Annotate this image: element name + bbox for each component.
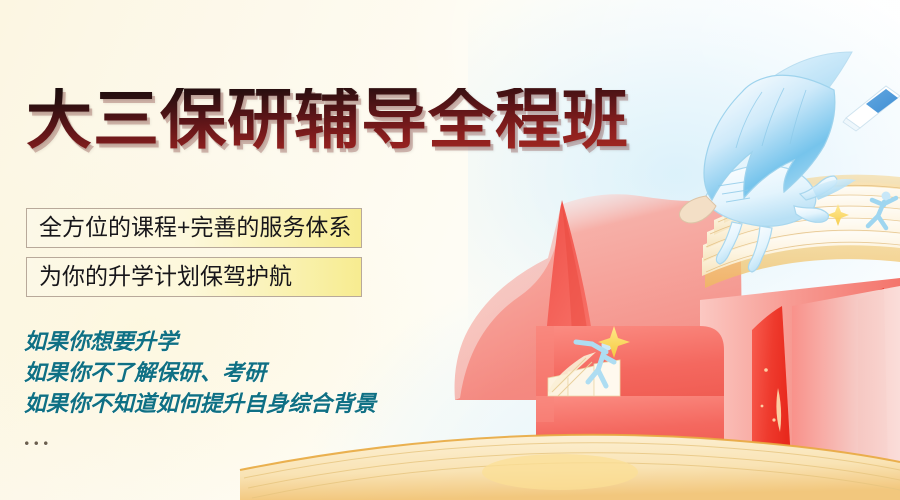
tagline-primary: 全方位的课程+完善的服务体系 — [26, 208, 362, 248]
page-title: 大三保研辅导全程班 — [26, 88, 629, 154]
tagline-secondary: 为你的升学计划保驾护航 — [26, 257, 362, 297]
pitch-block: 如果你想要升学 如果你不了解保研、考研 如果你不知道如何提升自身综合背景 ... — [24, 326, 376, 453]
tagline-group: 全方位的课程+完善的服务体系 为你的升学计划保驾护航 — [26, 208, 362, 297]
pitch-line-3: 如果你不知道如何提升自身综合背景 — [24, 388, 376, 419]
text-content: 大三保研辅导全程班 全方位的课程+完善的服务体系 为你的升学计划保驾护航 如果你… — [0, 0, 470, 500]
pitch-line-2: 如果你不了解保研、考研 — [24, 357, 376, 388]
pitch-line-1: 如果你想要升学 — [24, 326, 376, 357]
promo-banner: 大三保研辅导全程班 全方位的课程+完善的服务体系 为你的升学计划保驾护航 如果你… — [0, 0, 900, 500]
pitch-ellipsis: ... — [24, 422, 376, 453]
